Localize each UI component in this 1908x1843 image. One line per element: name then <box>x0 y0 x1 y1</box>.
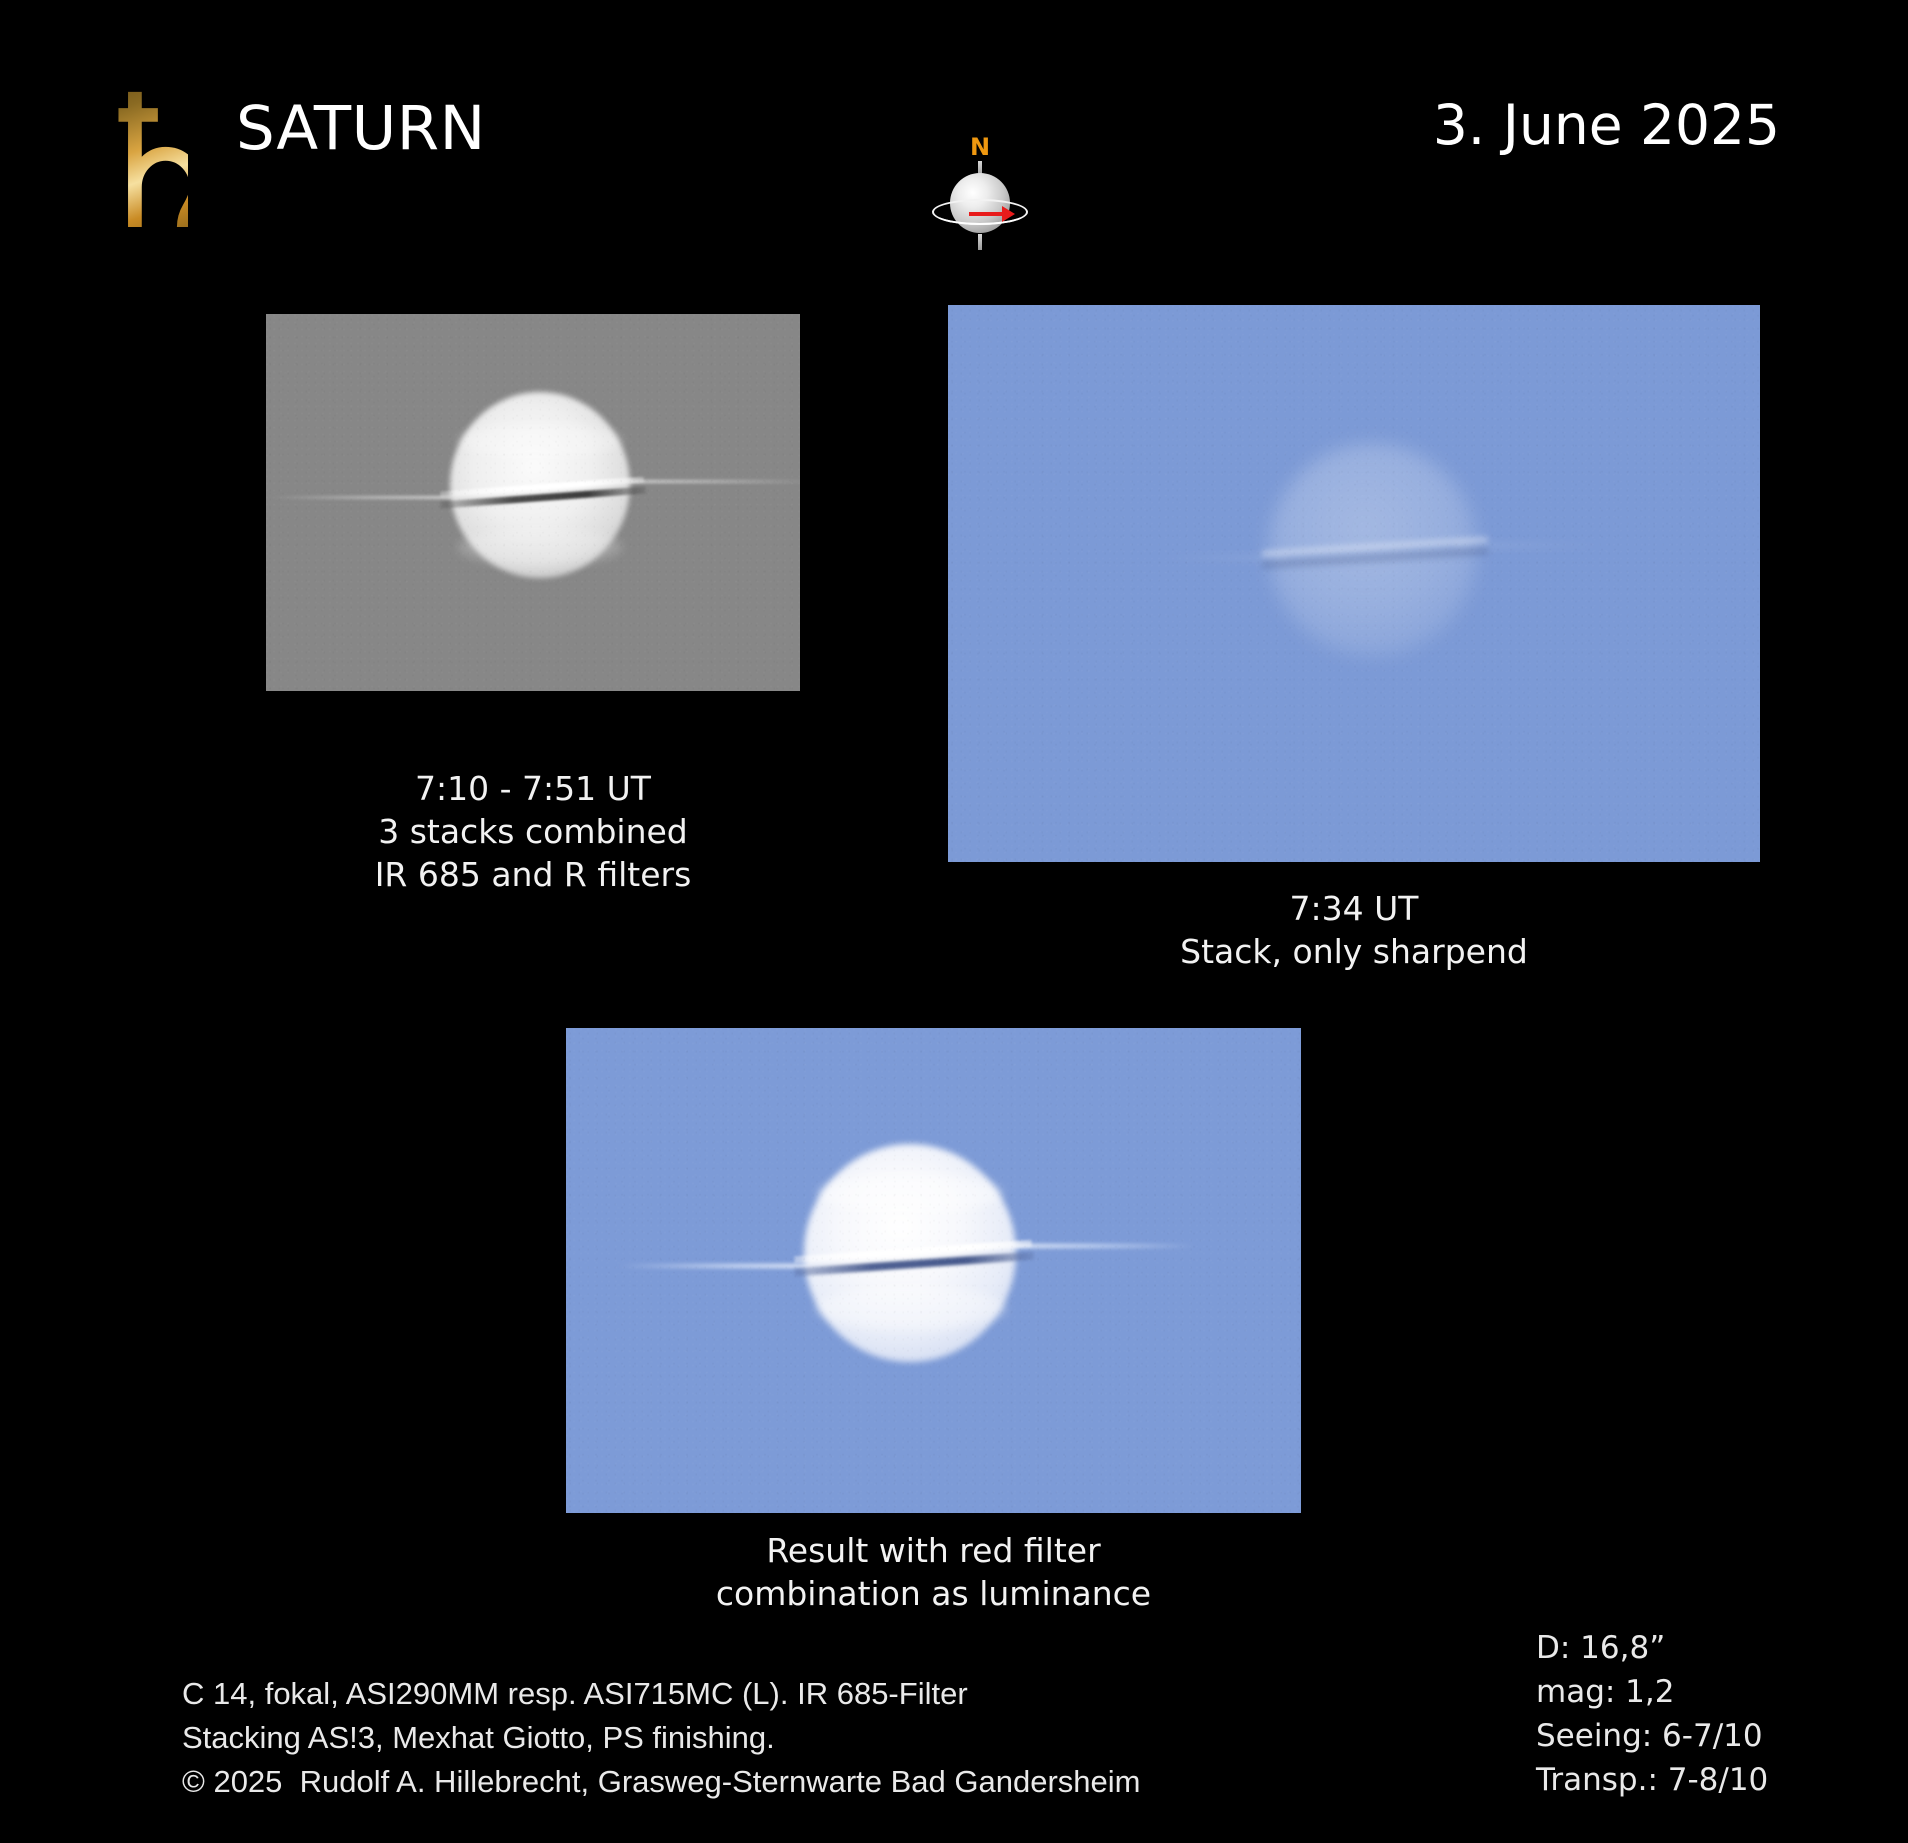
obs-magnitude: mag: 1,2 <box>1536 1670 1768 1714</box>
saturn-belt-south <box>458 528 622 566</box>
image-panel-raw-stack[interactable] <box>948 305 1760 862</box>
poster-canvas: ♄ SATURN 3. June 2025 N 7:10 - 7:51 UT 3… <box>0 0 1908 1843</box>
caption-line: IR 685 and R filters <box>266 854 800 897</box>
credits-line-copyright: © 2025 Rudolf A. Hillebrecht, Grasweg-St… <box>182 1760 1140 1804</box>
caption-raw-stack: 7:34 UT Stack, only sharpend <box>948 888 1760 974</box>
saturn-render-ir <box>374 368 694 638</box>
saturn-belt-south <box>816 1286 1006 1330</box>
ring-extension-left <box>618 1264 818 1268</box>
credits-block: C 14, fokal, ASI290MM resp. ASI715MC (L)… <box>182 1672 1140 1804</box>
saturn-render-result <box>686 1108 1106 1438</box>
image-panel-ir-stack[interactable] <box>266 314 800 691</box>
ring-extension-left <box>270 496 460 499</box>
saturn-belt-north <box>458 424 622 458</box>
rotation-arrow-icon <box>969 212 1003 216</box>
caption-line: Stack, only sharpend <box>948 931 1760 974</box>
caption-line: 7:34 UT <box>948 888 1760 931</box>
image-panel-final-result[interactable] <box>566 1028 1301 1513</box>
caption-line: 7:10 - 7:51 UT <box>266 768 800 811</box>
obs-seeing: Seeing: 6-7/10 <box>1536 1714 1768 1758</box>
caption-line: Result with red filter <box>566 1530 1301 1573</box>
obs-transparency: Transp.: 7-8/10 <box>1536 1758 1768 1802</box>
polar-axis-south-icon <box>978 234 982 250</box>
obs-diameter: D: 16,8” <box>1536 1626 1768 1670</box>
observation-date: 3. June 2025 <box>1433 93 1780 157</box>
north-direction-label: N <box>970 133 990 161</box>
saturn-belt-north <box>818 1174 1002 1214</box>
orientation-globe-icon: N <box>925 135 1035 250</box>
caption-final-result: Result with red filter combination as lu… <box>566 1530 1301 1616</box>
saturn-render-raw <box>1188 415 1548 715</box>
caption-ir-stack: 7:10 - 7:51 UT 3 stacks combined IR 685 … <box>266 768 800 897</box>
caption-line: 3 stacks combined <box>266 811 800 854</box>
page-title: SATURN <box>236 93 486 164</box>
credits-line-equipment: C 14, fokal, ASI290MM resp. ASI715MC (L)… <box>182 1672 1140 1716</box>
caption-line: combination as luminance <box>566 1573 1301 1616</box>
saturn-symbol-icon: ♄ <box>78 88 188 248</box>
credits-line-processing: Stacking AS!3, Mexhat Giotto, PS finishi… <box>182 1716 1140 1760</box>
observation-data-block: D: 16,8” mag: 1,2 Seeing: 6-7/10 Transp.… <box>1536 1626 1768 1802</box>
